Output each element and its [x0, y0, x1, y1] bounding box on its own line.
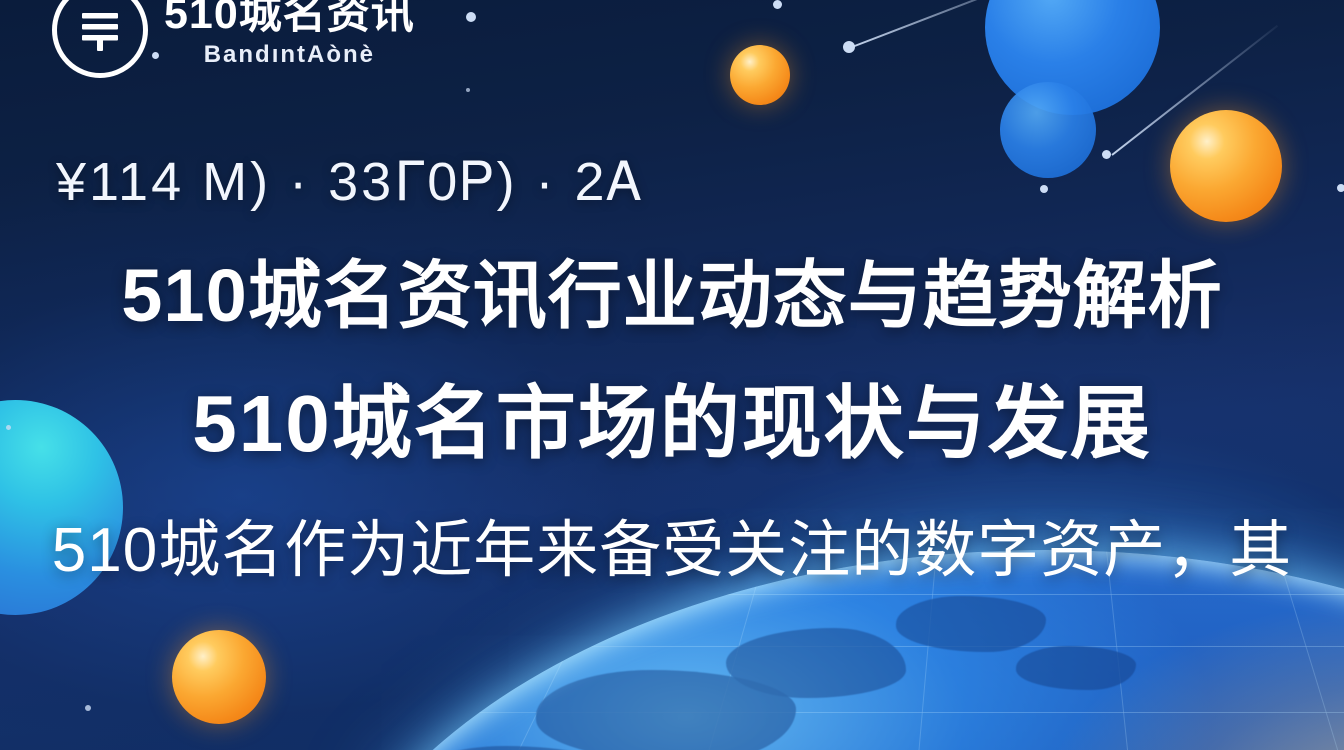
blue-sphere-top-right: [985, 0, 1160, 115]
orange-sphere-top-center: [730, 45, 790, 105]
headline-secondary: 510城名市场的现状与发展: [26, 359, 1318, 475]
comet-trail: [852, 0, 1049, 48]
star-dot: [466, 12, 476, 22]
comet-trail: [1111, 25, 1278, 156]
star-dot: [843, 41, 855, 53]
circular-emblem-icon: [52, 0, 148, 78]
poster-content: ¥114 M) · 33ᒥ0Ꮲ) · 2Ꭺ 510城名资讯行业动态与趋势解析 5…: [0, 150, 1344, 589]
star-dot: [773, 0, 782, 9]
brand-logo[interactable]: 510城名资讯 BandıntAònè: [52, 0, 415, 78]
brand-name-en: BandıntAònè: [164, 43, 415, 67]
meta-line: ¥114 M) · 33ᒥ0Ꮲ) · 2Ꭺ: [26, 150, 1318, 214]
star-dot: [466, 88, 470, 92]
headline-primary: 510城名资讯行业动态与趋势解析: [26, 236, 1318, 343]
brand-name-cn: 510城名资讯: [164, 0, 415, 36]
star-dot: [85, 705, 91, 711]
subheadline: 510城名作为近年来备受关注的数字资产，其: [26, 499, 1318, 589]
poster-canvas: 510城名资讯 BandıntAònè ¥114 M) · 33ᒥ0Ꮲ) · 2…: [0, 0, 1344, 750]
orange-sphere-bottom-left: [172, 630, 266, 724]
brand-text: 510城名资讯 BandıntAònè: [164, 0, 415, 67]
